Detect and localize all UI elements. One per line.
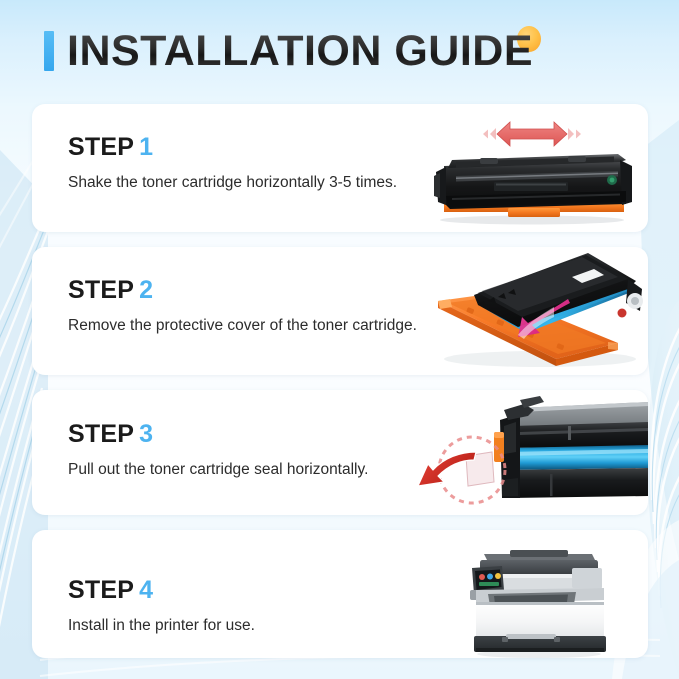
steps-list: STEP1 Shake the toner cartridge horizont… (32, 104, 648, 673)
step-4-illustration (454, 538, 624, 658)
step-2-heading: STEP2 (68, 278, 417, 303)
title-wrap: INSTALLATION GUIDE (44, 28, 533, 73)
step-2-label: STEP (68, 276, 134, 304)
step-3-label: STEP (68, 420, 134, 448)
step-1-text: STEP1 Shake the toner cartridge horizont… (68, 135, 397, 193)
step-1-description: Shake the toner cartridge horizontally 3… (68, 173, 397, 193)
step-4-number: 4 (139, 576, 153, 604)
cartridge-body (494, 396, 648, 498)
step-4-text: STEP4 Install in the printer for use. (68, 578, 255, 636)
step-2-number: 2 (139, 276, 153, 304)
step-3-text: STEP3 Pull out the toner cartridge seal … (68, 422, 368, 480)
step-4-label: STEP (68, 576, 134, 604)
step-3-description: Pull out the toner cartridge seal horizo… (68, 460, 368, 480)
step-2-description: Remove the protective cover of the toner… (68, 316, 417, 336)
step-3-illustration (408, 390, 648, 515)
step-3-heading: STEP3 (68, 422, 368, 447)
step-card-1: STEP1 Shake the toner cartridge horizont… (32, 104, 648, 232)
step-1-number: 1 (139, 133, 153, 161)
step-4-description: Install in the printer for use. (68, 616, 255, 636)
vertical-bar-icon (44, 31, 54, 71)
step-1-heading: STEP1 (68, 135, 397, 160)
step-1-illustration (422, 110, 642, 228)
step-card-4: STEP4 Install in the printer for use. (32, 530, 648, 658)
page-title: INSTALLATION GUIDE (67, 30, 533, 73)
step-1-label: STEP (68, 133, 134, 161)
double-headed-arrow-icon (483, 122, 581, 146)
step-card-2: STEP2 Remove the protective cover of the… (32, 247, 648, 375)
step-2-illustration (422, 247, 648, 375)
step-3-number: 3 (139, 420, 153, 448)
step-2-text: STEP2 Remove the protective cover of the… (68, 278, 417, 336)
page-header: INSTALLATION GUIDE (0, 0, 679, 100)
step-4-heading: STEP4 (68, 578, 255, 603)
step-card-3: STEP3 Pull out the toner cartridge seal … (32, 390, 648, 515)
